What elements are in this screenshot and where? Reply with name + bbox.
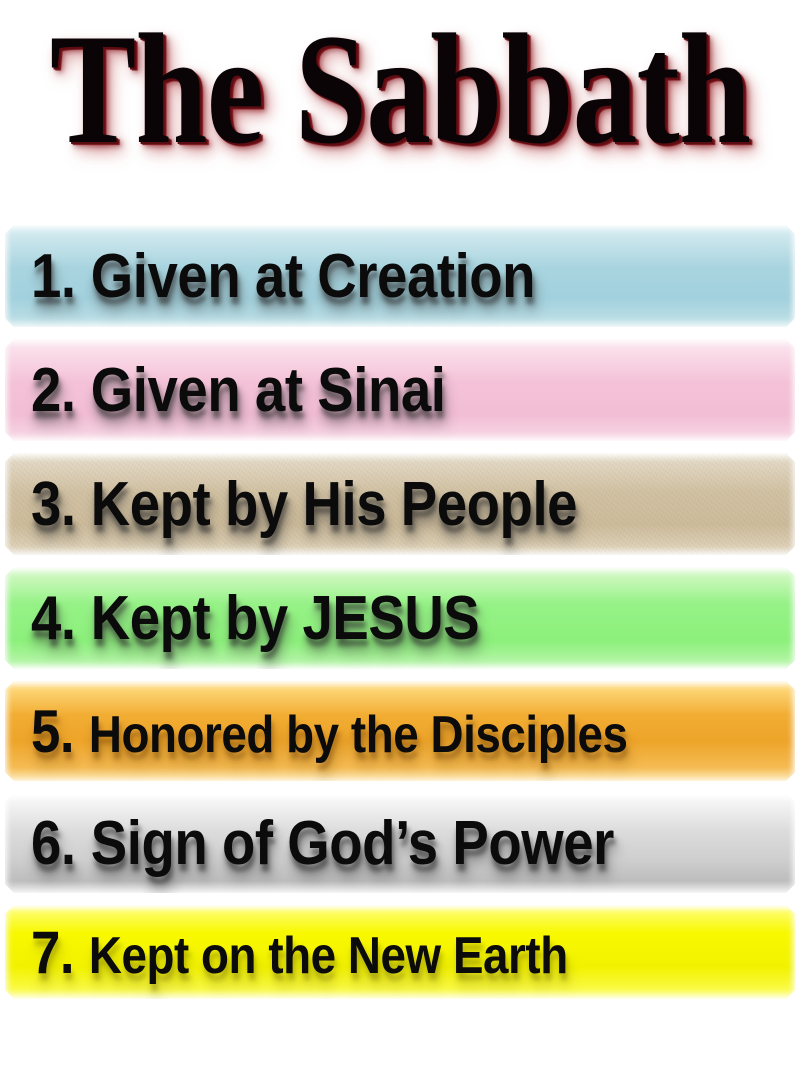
list-item-7-number: 7.: [31, 919, 74, 986]
list-item-4-surface: 4. Kept by JESUS: [5, 567, 795, 669]
page-title: The Sabbath: [50, 6, 750, 173]
list-item-5[interactable]: 5. Honored by the Disciples: [5, 681, 795, 781]
list-item-6-text: Sign of God’s Power: [91, 809, 614, 878]
poster-title-block: The Sabbath: [0, 0, 800, 225]
sabbath-point-list: 1. Given at Creation 2. Given at Sinai 3…: [0, 225, 800, 1017]
list-item-1-text: Given at Creation: [91, 242, 535, 311]
list-item-6-label: 6. Sign of God’s Power: [31, 808, 614, 879]
list-item-7-label: 7. Kept on the New Earth: [31, 918, 568, 987]
list-item-5-number: 5.: [31, 698, 74, 765]
list-item-1-label: 1. Given at Creation: [31, 241, 535, 312]
list-item-7-text: Kept on the New Earth: [89, 927, 568, 985]
list-item-5-surface: 5. Honored by the Disciples: [5, 681, 795, 781]
list-item-2-surface: 2. Given at Sinai: [5, 339, 795, 441]
list-item-3[interactable]: 3. Kept by His People: [5, 453, 795, 555]
list-item-1-number: 1.: [31, 242, 76, 311]
list-item-4[interactable]: 4. Kept by JESUS: [5, 567, 795, 669]
list-item-2[interactable]: 2. Given at Sinai: [5, 339, 795, 441]
list-item-5-label: 5. Honored by the Disciples: [31, 697, 628, 766]
list-item-2-text: Given at Sinai: [91, 356, 446, 425]
list-item-1[interactable]: 1. Given at Creation: [5, 225, 795, 327]
list-item-3-number: 3.: [31, 470, 76, 539]
list-item-7-surface: 7. Kept on the New Earth: [5, 905, 795, 999]
list-item-6-number: 6.: [31, 809, 76, 878]
list-item-6-surface: 6. Sign of God’s Power: [5, 793, 795, 893]
list-item-1-surface: 1. Given at Creation: [5, 225, 795, 327]
list-item-6[interactable]: 6. Sign of God’s Power: [5, 793, 795, 893]
list-item-2-number: 2.: [31, 356, 76, 425]
list-item-4-text: Kept by JESUS: [91, 584, 479, 653]
list-item-3-label: 3. Kept by His People: [31, 469, 577, 540]
list-item-3-surface: 3. Kept by His People: [5, 453, 795, 555]
list-item-2-label: 2. Given at Sinai: [31, 355, 445, 426]
list-item-4-number: 4.: [31, 584, 76, 653]
list-item-7[interactable]: 7. Kept on the New Earth: [5, 905, 795, 999]
sabbath-poster: The Sabbath 1. Given at Creation 2. Give…: [0, 0, 800, 1067]
list-item-5-text: Honored by the Disciples: [89, 706, 628, 764]
list-item-3-text: Kept by His People: [91, 470, 577, 539]
list-item-4-label: 4. Kept by JESUS: [31, 583, 479, 654]
